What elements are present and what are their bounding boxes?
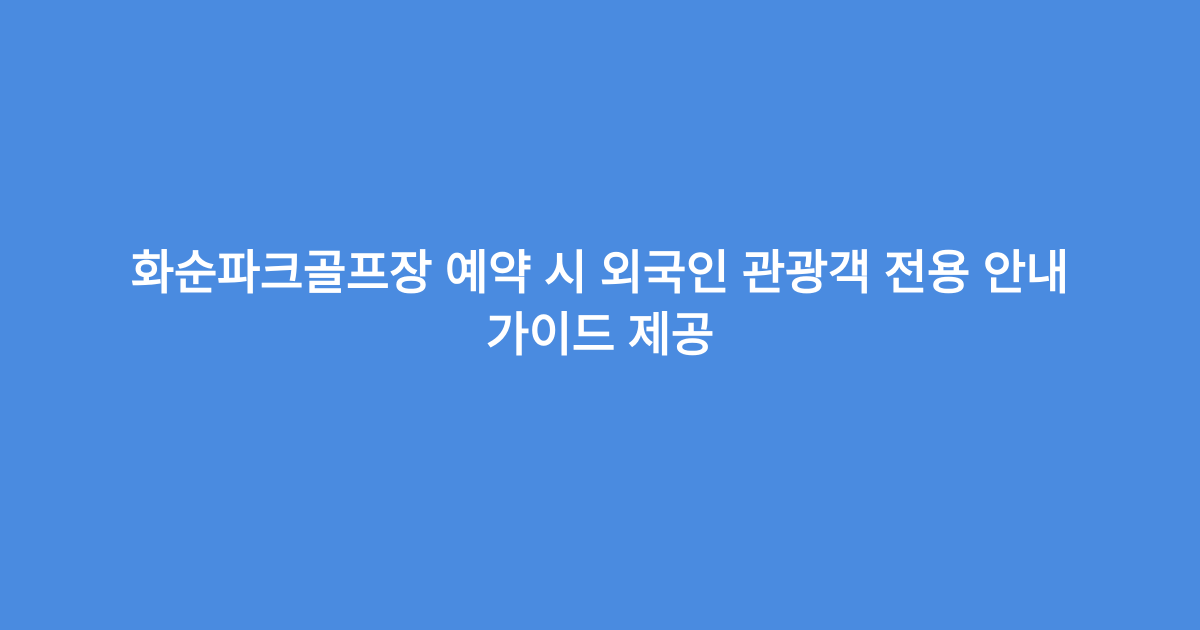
headline-block: 화순파크골프장 예약 시 외국인 관광객 전용 안내 가이드 제공 <box>50 242 1150 366</box>
share-card: 화순파크골프장 예약 시 외국인 관광객 전용 안내 가이드 제공 <box>0 0 1200 630</box>
page-title: 화순파크골프장 예약 시 외국인 관광객 전용 안내 가이드 제공 <box>70 242 1130 366</box>
